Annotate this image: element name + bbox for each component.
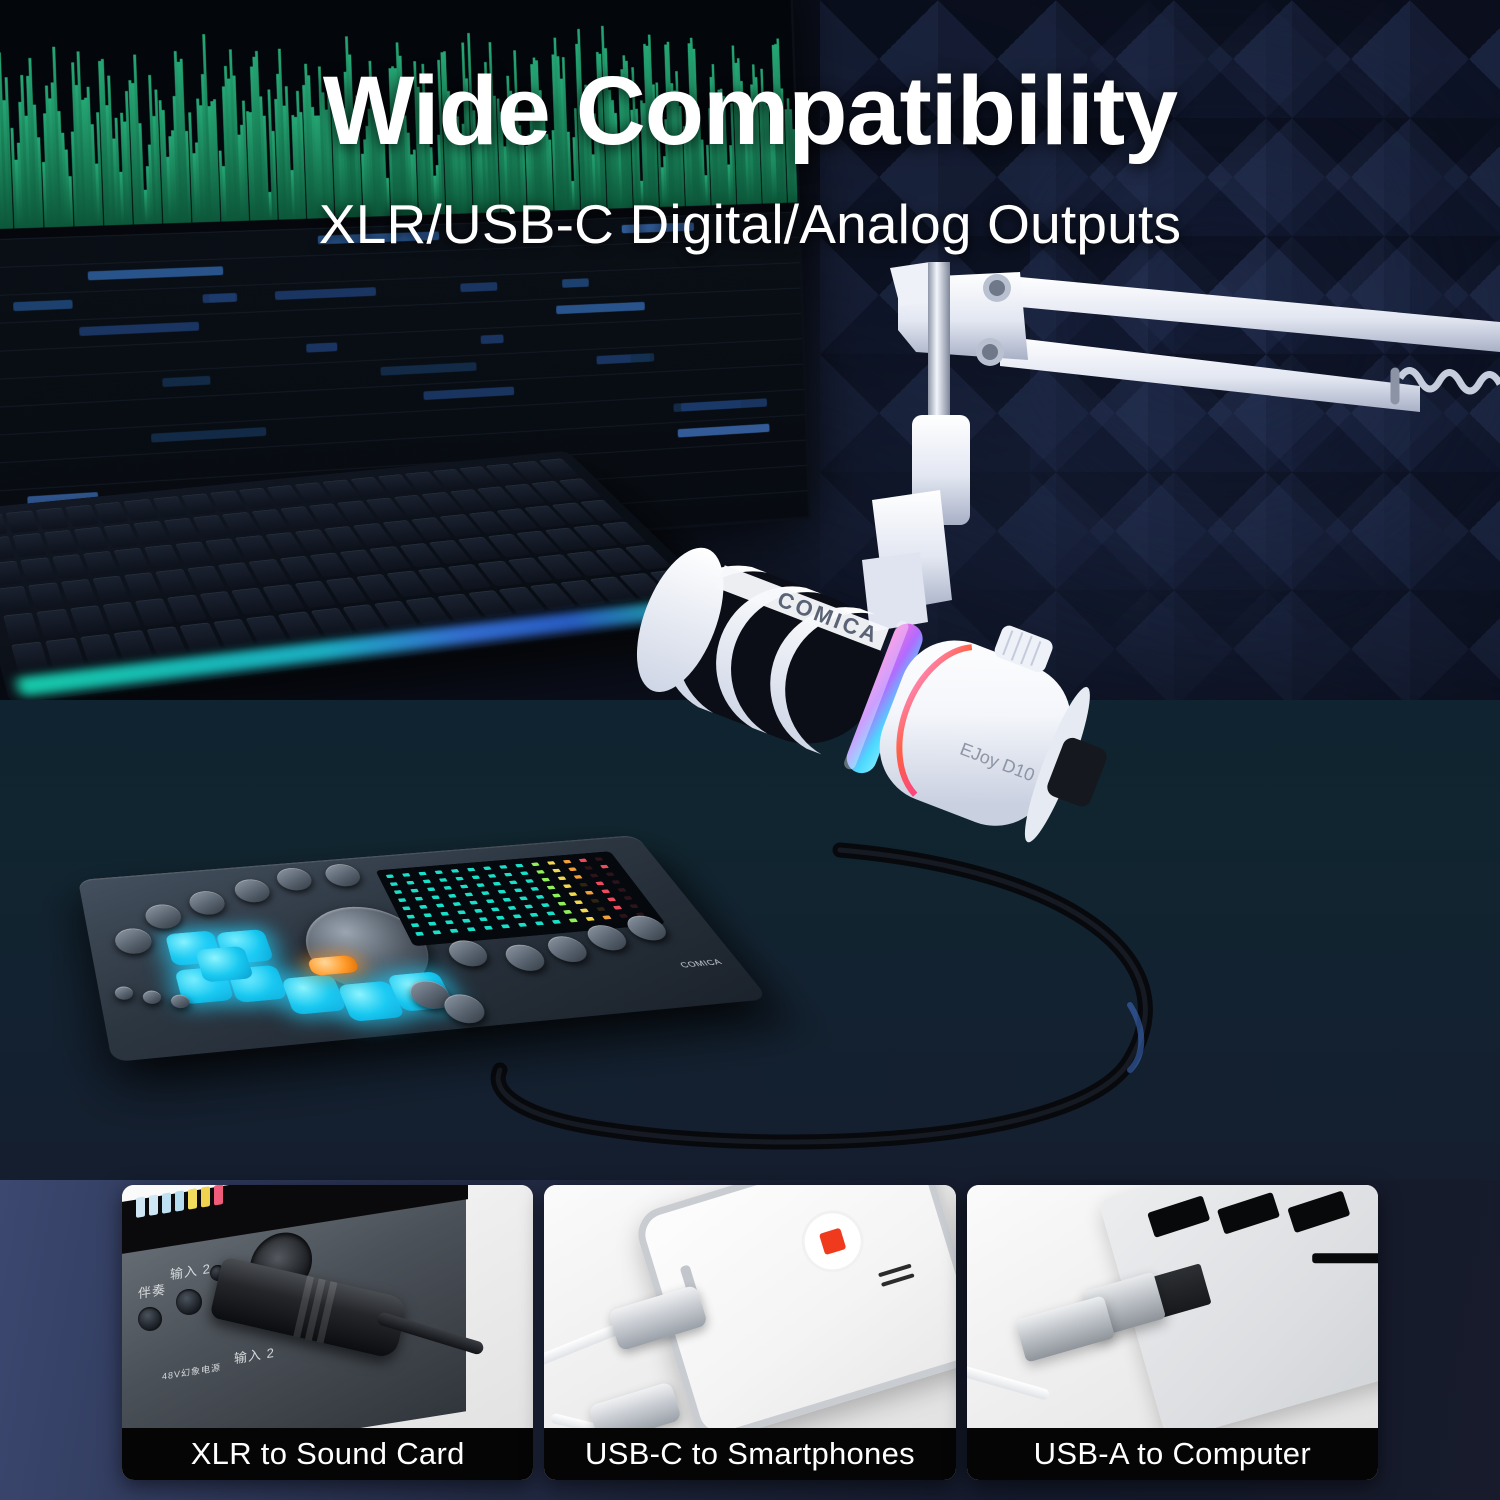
- laptop-port-1: [1147, 1195, 1210, 1238]
- page-title: Wide Compatibility: [0, 62, 1500, 161]
- usb-cable-white: [967, 1360, 1050, 1401]
- caption-xlr: XLR to Sound Card: [122, 1428, 533, 1480]
- caption-usba: USB-A to Computer: [967, 1428, 1378, 1480]
- microphone-ejoy-d10: COMICA EJoy D10: [612, 520, 1112, 900]
- connectivity-panels: 伴奏 输入 2 输入 2 48V幻象电源 XLR to Sound Card: [122, 1185, 1378, 1480]
- usb-c-to-a-adapter: [1014, 1295, 1115, 1363]
- panel-image-usbc: [544, 1185, 955, 1428]
- product-marketing-image: COMICA: [0, 0, 1500, 1500]
- panel-usbc-to-smartphones[interactable]: USB-C to Smartphones: [544, 1185, 955, 1480]
- panel-usba-to-computer[interactable]: USB-A to Computer: [967, 1185, 1378, 1480]
- laptop-port-3: [1287, 1191, 1350, 1234]
- panel-xlr-to-sound-card[interactable]: 伴奏 输入 2 输入 2 48V幻象电源 XLR to Sound Card: [122, 1185, 533, 1480]
- mixer-pad: [195, 946, 254, 983]
- usb-c-adapter-loose: [588, 1381, 682, 1428]
- jack-input2: [176, 1289, 202, 1315]
- laptop-port-2: [1217, 1192, 1280, 1235]
- panel-image-xlr: 伴奏 输入 2 输入 2 48V幻象电源: [122, 1185, 533, 1428]
- panel-image-usba: [967, 1185, 1378, 1428]
- jack-accompaniment: [138, 1307, 162, 1331]
- caption-usbc: USB-C to Smartphones: [544, 1428, 955, 1480]
- hero-scene: COMICA: [0, 0, 1500, 1190]
- record-button-icon: [798, 1206, 868, 1276]
- page-subtitle: XLR/USB-C Digital/Analog Outputs: [0, 192, 1500, 256]
- laptop-card-slot: [1312, 1253, 1378, 1263]
